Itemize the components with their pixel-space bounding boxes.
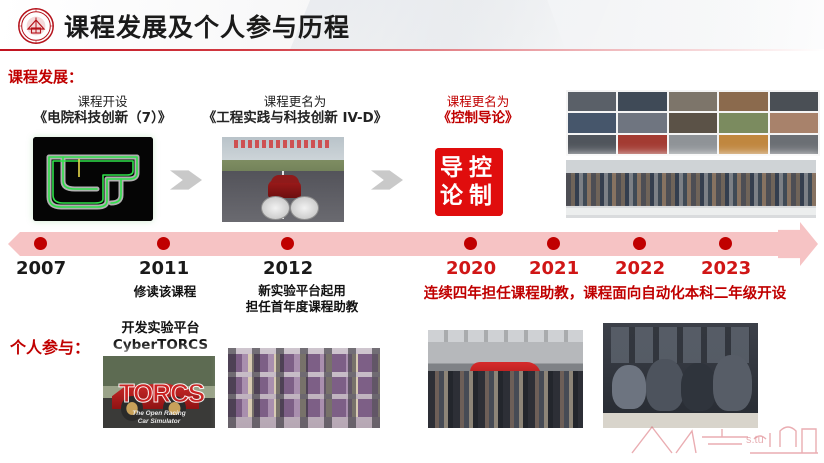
video-tile [618,135,666,154]
seal-char-3: 制 [469,184,492,207]
timeline-year-2007: 2007 [16,258,66,279]
caption-line1: 课程更名为 [398,93,558,110]
torcs-tagline: The Open Racing Car Simulator [103,410,215,426]
photo-crowd [566,173,816,207]
timeline-dot-2011[interactable] [157,237,170,250]
video-tile [719,113,767,132]
torcs-track-map-image [33,137,153,221]
section-label-course-development: 课程发展： [8,66,83,87]
note-platform-line1: 开发实验平台 [121,321,199,336]
note-2012: 新实验平台起用 担任首年度课程助教 [222,283,382,315]
timeline-year-2021: 2021 [529,258,579,279]
note-2012-line2: 担任首年度课程助教 [246,299,359,314]
decorative-watermark-icon: s.tu [630,413,820,461]
caption-line2: 《工程实践与科技创新 IV-D》 [175,110,415,127]
caption-course-renamed-2: 课程更名为 《控制导论》 [398,93,558,127]
timeline-year-2022: 2022 [615,258,665,279]
note-platform-line2: CyberTORCS [113,337,208,353]
timeline-dot-2021[interactable] [547,237,560,250]
note-2012-line1: 新实验平台起用 [258,283,346,298]
timeline-year-2020: 2020 [446,258,496,279]
video-tile [568,113,616,132]
timeline-bar [8,232,780,256]
note-red-summary: 连续四年担任课程助教，课程面向自动化本科二年级开设 [390,286,820,302]
torcs-race-screenshot-image [222,137,344,222]
header-underline [0,49,824,51]
note-2011: 修读该课程 [110,284,220,300]
seal-char-1: 控 [469,156,492,179]
photo-person [646,359,683,412]
slide-root: 课程发展及个人参与历程 课程发展： 个人参与： 课程开设 《电院科技创新（7）》… [0,0,824,463]
game-hud-text [234,140,332,148]
video-tile [719,135,767,154]
timeline-dot-2007[interactable] [34,237,47,250]
seal-char-4: 论 [440,184,463,207]
video-tile [669,113,717,132]
photo-person [612,365,646,409]
timeline-year-2011: 2011 [139,258,189,279]
header-facet-2 [540,0,824,50]
video-tile [770,113,818,132]
photo-ceiling [428,330,583,342]
photo-front-desk [566,208,816,215]
svg-text:s.tu: s.tu [746,434,764,446]
video-tile [719,92,767,111]
timeline-year-2012: 2012 [263,258,313,279]
game-speed-dial [261,196,290,220]
video-tile [669,135,717,154]
torcs-tagline-line1: The Open Racing [132,410,185,417]
video-tile [770,135,818,154]
page-title: 课程发展及个人参与历程 [64,8,350,44]
video-tile [618,113,666,132]
section-label-personal-participation: 个人参与： [10,334,90,358]
photo-person [681,363,717,411]
caption-line2: 《控制导论》 [398,110,558,127]
photo-people [228,348,380,428]
seal-char-2: 导 [440,156,463,179]
torcs-wordmark: TORCS [119,378,202,402]
caption-line1: 课程更名为 [175,93,415,110]
video-tile [669,92,717,111]
timeline-arrow-head-icon [778,222,818,266]
torcs-logo-image: TORCS The Open Racing Car Simulator [103,356,215,428]
timeline-dot-2020[interactable] [464,237,477,250]
video-tile [568,92,616,111]
university-seal-icon [17,7,55,45]
video-tile [770,92,818,111]
timeline-dot-2012[interactable] [281,237,294,250]
photo-person [713,355,752,412]
video-tile [618,92,666,111]
classroom-students-photo-image [228,348,380,428]
timeline-dot-2023[interactable] [719,237,732,250]
lecture-hall-group-photo-image [566,160,816,218]
note-platform: 开发实验平台 CyberTORCS [98,320,223,354]
chevron-right-icon [371,165,403,195]
timeline-year-2023: 2023 [701,258,751,279]
caption-course-renamed-1: 课程更名为 《工程实践与科技创新 IV-D》 [175,93,415,127]
online-class-video-grid-image [566,90,820,156]
torcs-tagline-line2: Car Simulator [138,418,181,425]
control-intro-seal-image: 控 导 制 论 [435,148,503,216]
students-with-red-car-photo-image [428,330,583,428]
timeline-dot-2022[interactable] [633,237,646,250]
video-tile [568,135,616,154]
chevron-right-icon [170,165,202,195]
photo-student-group [428,371,583,428]
